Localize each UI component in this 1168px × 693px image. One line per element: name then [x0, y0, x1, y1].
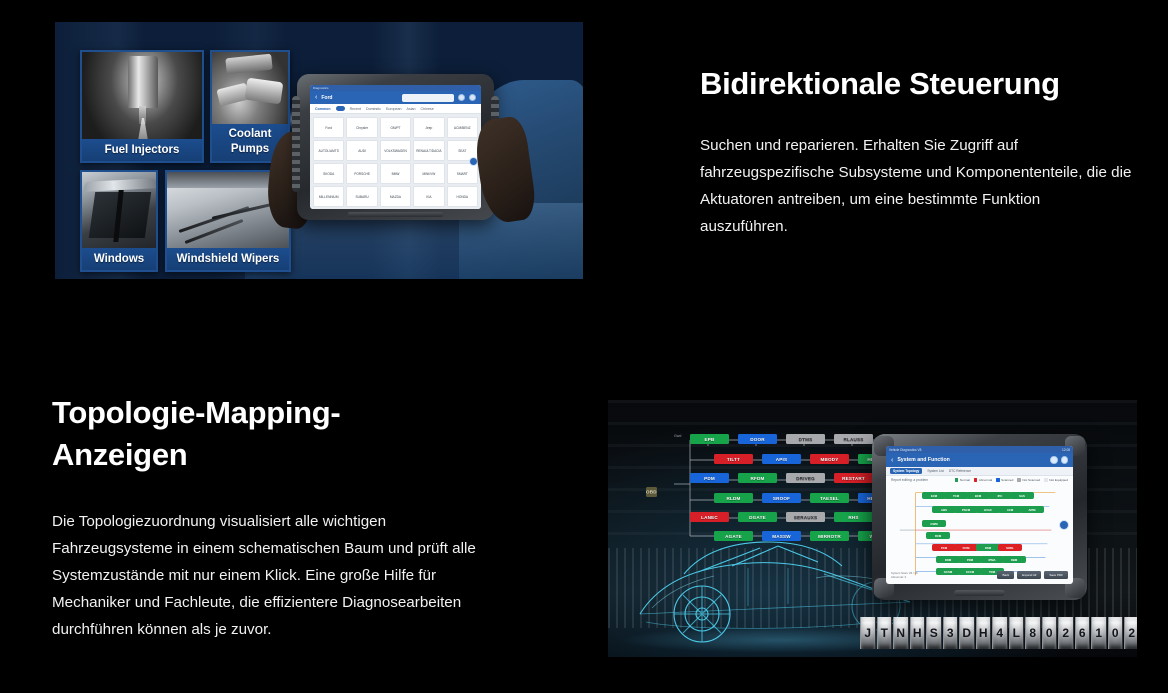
footer-button-group: BackExpand AllSave PDF — [997, 571, 1068, 579]
tablet-appbar: ‹ Ford — [310, 91, 481, 104]
topology-tree-node[interactable]: APIM — [1020, 506, 1044, 513]
tablet-titlebar-text: Diagnostics — [313, 86, 329, 90]
vin-roller-display: JTNHS3DH4L8026102 — [860, 617, 1137, 649]
topology-tree-node[interactable]: TCM — [944, 492, 968, 499]
help-icon[interactable] — [1061, 456, 1069, 464]
thumbnail-fuel-injectors: Fuel Injectors — [80, 50, 204, 163]
footer-button[interactable]: Back — [997, 571, 1014, 579]
thumbnail-caption: Windshield Wipers — [167, 248, 289, 270]
tab-common[interactable]: Common — [315, 107, 331, 111]
brand-tile[interactable]: PORSCHE — [346, 163, 377, 184]
topology-node: MASSW — [762, 531, 801, 541]
injector-nozzle-shape — [128, 56, 158, 108]
topology-node: DGATE — [738, 512, 777, 522]
topology-tree-node[interactable]: FCIM — [954, 544, 978, 551]
brand-tile[interactable]: AUDI — [346, 140, 377, 161]
topology-tree-node[interactable]: PSCM — [954, 506, 978, 513]
topology-tree-node[interactable]: SODL — [998, 544, 1022, 551]
diagnostic-tablet-device: Diagnostics ‹ Ford Common Recent Domesti… — [297, 74, 494, 220]
bidirectional-control-image: Fuel Injectors Coolant Pumps Windows — [55, 22, 583, 279]
help-icon[interactable] — [469, 94, 476, 101]
topology-node: RHS — [834, 512, 873, 522]
tab-recent[interactable]: Recent — [350, 107, 361, 111]
brand-tile[interactable]: MINI/VW — [413, 163, 444, 184]
tablet-stand-strip — [348, 212, 443, 217]
topology-node: DRIVEG — [786, 473, 825, 483]
brand-tile[interactable]: Jeep — [413, 117, 444, 138]
brand-tile[interactable]: ACM/BENZ — [447, 117, 478, 138]
topology-tree-node[interactable]: BCM — [966, 492, 990, 499]
topology-node: TAESEL — [810, 493, 849, 503]
tablet-app-bar: ‹ System and Function — [886, 453, 1073, 467]
thumbnail-windows: Windows — [80, 170, 158, 272]
topology-node: MBODY — [810, 454, 849, 464]
topology-node: RLAUSS — [834, 434, 873, 444]
back-arrow-icon[interactable]: ‹ — [891, 457, 893, 464]
tablet-app-title: System and Function — [897, 457, 949, 463]
search-input[interactable] — [402, 94, 454, 102]
wiper-blade-shape — [185, 219, 244, 244]
vin-character-cell: T — [877, 617, 893, 649]
brand-tile[interactable]: MAZDA — [380, 186, 411, 207]
thumbnail-caption: Fuel Injectors — [82, 139, 202, 161]
gear-icon[interactable] — [458, 94, 465, 101]
bidirectional-control-text-block: Bidirektionale Steuerung Suchen und repa… — [700, 63, 1140, 240]
vin-character-cell: J — [860, 617, 876, 649]
tab-european[interactable]: European — [386, 107, 402, 111]
topology-tree-node[interactable]: IPMA — [980, 556, 1004, 563]
page-title-bidirectional: Bidirektionale Steuerung — [700, 63, 1140, 105]
topology-node: RESTART — [834, 473, 873, 483]
pump-pipe-shape — [245, 78, 284, 105]
topology-tree-node[interactable]: DSM — [976, 544, 1000, 551]
vin-character-cell: 2 — [1124, 617, 1137, 649]
topology-node: EPB — [690, 434, 729, 444]
brand-tile[interactable]: RENAULT/DACIA — [413, 140, 444, 161]
vin-character-cell: 3 — [943, 617, 959, 649]
topology-tablet-screen: Vehicle Diagnostics V8 12:08 ‹ System an… — [886, 446, 1073, 584]
obd-port-label: OBD — [646, 480, 657, 498]
gear-icon[interactable] — [1050, 456, 1058, 464]
body-text-bidirectional: Suchen und reparieren. Erhalten Sie Zugr… — [700, 132, 1132, 240]
tablet-app-title: Ford — [321, 95, 332, 101]
body-text-topology: Die Topologiezuordnung visualisiert alle… — [52, 508, 492, 643]
tablet-stand-strip — [954, 590, 1006, 596]
vin-character-cell: H — [976, 617, 992, 649]
brand-tile[interactable]: Ford — [313, 117, 344, 138]
floating-action-button[interactable] — [1059, 520, 1069, 530]
topology-tree-node[interactable]: DDM — [936, 556, 960, 563]
tablet-side-grip — [292, 96, 300, 192]
tab-dtc-reference[interactable]: DTC Reference — [949, 469, 971, 473]
vin-character-cell: 8 — [1025, 617, 1041, 649]
topology-node: AGATE — [714, 531, 753, 541]
status-bar-clock: 12:08 — [1062, 448, 1070, 452]
status-bar-left: Vehicle Diagnostics V8 — [889, 448, 921, 452]
topology-footer: System Scan: 26 / 26 Abnormal: 3 BackExp… — [886, 566, 1073, 584]
brand-tile[interactable]: GM/PT — [380, 117, 411, 138]
vin-character-cell: S — [926, 617, 942, 649]
brand-tile[interactable]: SMART — [447, 163, 478, 184]
topology-node: RFDM — [738, 473, 777, 483]
topology-mapping-text-block: Topologie-Mapping- Anzeigen Die Topologi… — [52, 392, 502, 643]
topology-tree-node[interactable]: GWM — [922, 520, 946, 527]
topology-tree-node[interactable]: PCM — [932, 544, 956, 551]
topology-tree-node[interactable]: HVAC — [976, 506, 1000, 513]
pump-pipe-shape — [225, 54, 272, 75]
brand-tile[interactable]: SKODA — [313, 163, 344, 184]
topology-node: RLDM — [714, 493, 753, 503]
vin-character-cell: D — [959, 617, 975, 649]
tab-chinese[interactable]: Chinese — [421, 107, 434, 111]
topology-tablet-device: Vehicle Diagnostics V8 12:08 ‹ System an… — [872, 434, 1087, 600]
footer-button[interactable]: Expand All — [1017, 571, 1041, 579]
topology-node: DOOR — [738, 434, 777, 444]
scan-summary: System Scan: 26 / 26 Abnormal: 3 — [891, 571, 918, 579]
topology-node: APIS — [762, 454, 801, 464]
vin-character-cell: 2 — [1058, 617, 1074, 649]
topology-node: TILTT — [714, 454, 753, 464]
vin-character-cell: N — [893, 617, 909, 649]
vehicle-brand-grid: FordChryslerGM/PTJeepACM/BENZAUTOL/AMTSA… — [310, 114, 481, 209]
topology-tree-node[interactable]: RCM — [926, 532, 950, 539]
tablet-screen: Diagnostics ‹ Ford Common Recent Domesti… — [310, 85, 481, 209]
topology-node: SROOF — [762, 493, 801, 503]
brand-tile[interactable]: VOLKSWAGEN — [380, 140, 411, 161]
page-root: Fuel Injectors Coolant Pumps Windows — [0, 0, 1168, 693]
topology-node: LANEC — [690, 512, 729, 522]
topology-node: SERAUXS — [786, 512, 825, 522]
brand-tile[interactable]: Chrysler — [346, 117, 377, 138]
topology-tree-node[interactable]: ABS — [932, 506, 956, 513]
topology-node: MIRROTR — [810, 531, 849, 541]
brand-tile[interactable]: MILLENNIUM — [313, 186, 344, 207]
footer-button[interactable]: Save PDF — [1044, 571, 1068, 579]
topology-node: PDM — [690, 473, 729, 483]
brand-tile[interactable]: HONDA — [447, 186, 478, 207]
tab-system-list[interactable]: System List — [927, 469, 943, 473]
vin-character-cell: L — [1009, 617, 1025, 649]
topology-tree-node[interactable]: IPC — [988, 492, 1012, 499]
tab-toggle-pill[interactable] — [336, 106, 345, 111]
tab-domestic[interactable]: Domestic — [366, 107, 381, 111]
app-bar-icons — [1050, 456, 1068, 464]
topology-tree-node[interactable]: RBM — [1002, 556, 1026, 563]
vin-character-cell: 0 — [1108, 617, 1124, 649]
vin-character-cell: 0 — [1042, 617, 1058, 649]
topology-mapping-image: Gwd OBD EPBDOORDTMSRLAUSSBACKD TILTTAPIS… — [608, 400, 1137, 657]
tab-system-topology[interactable]: System Topology — [890, 468, 922, 474]
brand-tile[interactable]: BMW — [380, 163, 411, 184]
vin-character-cell: 4 — [992, 617, 1008, 649]
topology-tree-node[interactable]: ECM — [922, 492, 946, 499]
brand-tile[interactable]: KIA — [413, 186, 444, 207]
tablet-status-bar: Vehicle Diagnostics V8 12:08 — [886, 446, 1073, 453]
vin-character-cell: 1 — [1091, 617, 1107, 649]
vin-character-cell: 6 — [1075, 617, 1091, 649]
tablet-sub-bar: System Topology System List DTC Referenc… — [886, 467, 1073, 476]
topology-tree-node[interactable]: PDM — [958, 556, 982, 563]
back-arrow-icon[interactable]: ‹ — [315, 94, 317, 101]
gateway-label: Gwd — [674, 434, 681, 438]
topology-tree-node[interactable]: ACM — [998, 506, 1022, 513]
brand-tile[interactable]: AUTOL/AMTS — [313, 140, 344, 161]
brand-tile[interactable]: SUBARU — [346, 186, 377, 207]
thumbnail-caption: Windows — [82, 248, 156, 270]
vin-character-cell: H — [910, 617, 926, 649]
tab-asian[interactable]: Asian — [407, 107, 416, 111]
tablet-tab-row: Common Recent Domestic European Asian Ch… — [310, 104, 481, 114]
topology-tree-node[interactable]: SAS — [1010, 492, 1034, 499]
topology-node: DTMS — [786, 434, 825, 444]
page-title-topology: Topologie-Mapping- Anzeigen — [52, 392, 502, 476]
